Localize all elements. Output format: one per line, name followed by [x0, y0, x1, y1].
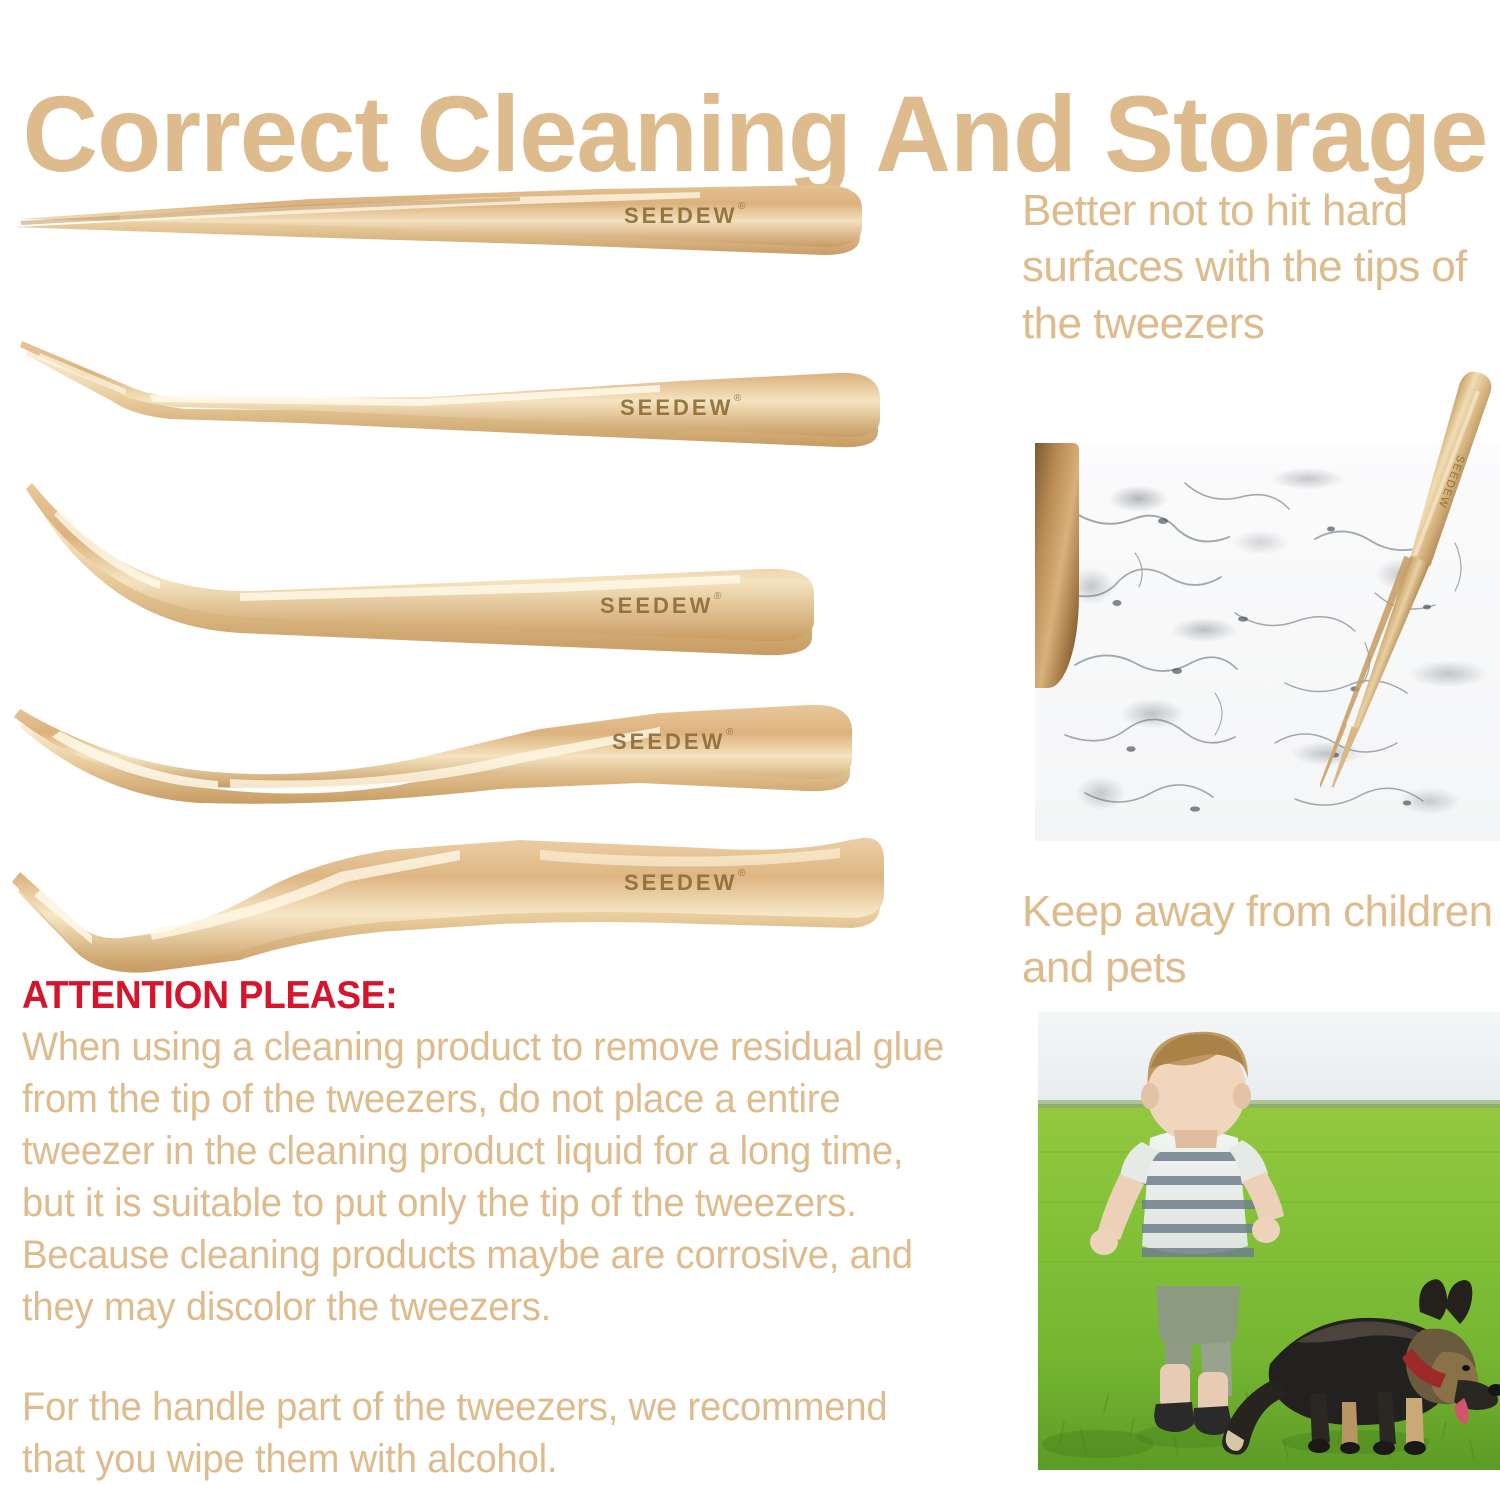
tweezer-angled-45-illustration: SEEDEW ® — [0, 323, 1010, 473]
tweezer-brand-label: SEEDEW — [612, 729, 725, 754]
tweezer-l-shaped-illustration: SEEDEW ® — [0, 820, 1010, 980]
wooden-board-edge — [1035, 443, 1079, 688]
tweezer-item-curved-boot: SEEDEW ® — [0, 461, 1010, 661]
tweezer-item-l-shaped: SEEDEW ® — [0, 820, 1010, 980]
photo-tweezer-on-marble: SEEDEW — [1320, 352, 1500, 832]
boy-and-dog-scene — [1038, 1012, 1500, 1470]
photo-marble-alt: Gold tweezer lying on a white marble sur… — [0, 0, 1, 1]
tweezer-brand-registered: ® — [714, 591, 722, 602]
tweezer-curved-s-illustration: SEEDEW ® — [0, 675, 1010, 835]
attention-heading: ATTENTION PLEASE: — [22, 975, 953, 1017]
tweezer-brand-label: SEEDEW — [620, 395, 733, 420]
tweezer-brand-registered: ® — [738, 868, 746, 879]
tweezer-gallery: SEEDEW ® — [0, 165, 1010, 955]
callout-hard-surfaces: Better not to hit hard surfaces with the… — [1022, 183, 1500, 352]
tweezer-brand-label: SEEDEW — [624, 870, 737, 895]
callout-children-pets: Keep away from children and pets — [1022, 884, 1500, 997]
attention-paragraph-2: For the handle part of the tweezers, we … — [22, 1381, 958, 1485]
tweezer-item-angled-45: SEEDEW ® — [0, 323, 1010, 473]
tweezer-item-curved-s: SEEDEW ® — [0, 675, 1010, 835]
tweezer-brand-registered: ® — [738, 201, 746, 212]
attention-block: ATTENTION PLEASE: When using a cleaning … — [22, 975, 1002, 1485]
right-column: Better not to hit hard surfaces with the… — [1020, 0, 1500, 1472]
tweezer-brand-registered: ® — [726, 727, 734, 738]
tweezer-brand-registered: ® — [734, 393, 742, 404]
tweezer-straight-point-illustration: SEEDEW ® — [0, 165, 1010, 315]
attention-paragraph-1: When using a cleaning product to remove … — [22, 1021, 958, 1333]
tweezer-item-straight-point: SEEDEW ® — [0, 165, 1010, 315]
tweezer-curved-boot-illustration: SEEDEW ® — [0, 461, 1010, 661]
tweezer-brand-label: SEEDEW — [600, 593, 713, 618]
photo-boy-and-dog — [1038, 1012, 1500, 1470]
tweezer-brand-label: SEEDEW — [624, 203, 737, 228]
photo-boy-dog-alt: Toddler in a striped shirt walking on gr… — [0, 0, 1, 1]
